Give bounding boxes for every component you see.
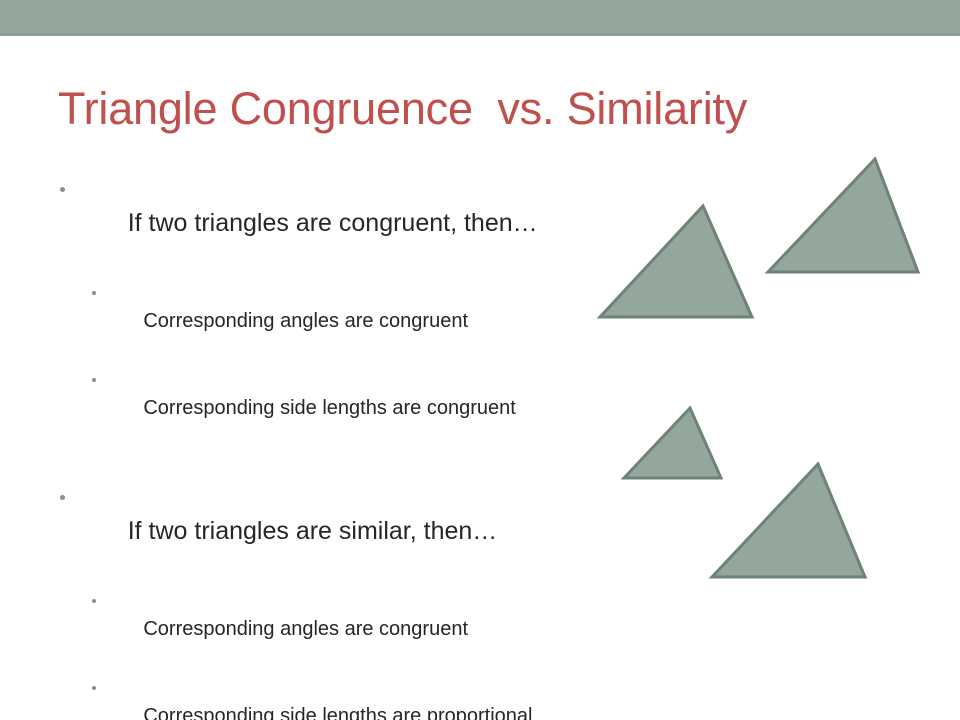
bullet-dot-icon [92, 686, 96, 690]
presentation-slide: Triangle Congruence vs. Similarity If tw… [0, 0, 960, 720]
bullet-similar-heading: If two triangles are similar, then… [56, 480, 656, 582]
slide-title: Triangle Congruence vs. Similarity [58, 82, 918, 136]
subbullet-similar-angles: Corresponding angles are congruent [56, 586, 656, 673]
subbullet-congruent-angles: Corresponding angles are congruent [56, 278, 656, 365]
bullet-dot-icon [92, 599, 96, 603]
slide-body: If two triangles are congruent, then… Co… [56, 172, 656, 720]
subbullet-similar-sides: Corresponding side lengths are proportio… [56, 673, 656, 720]
slide-top-band-rule [0, 33, 960, 36]
subbullet-congruent-sides: Corresponding side lengths are congruent [56, 365, 656, 452]
triangle-congruent-right [768, 159, 918, 272]
bullet-group-spacer [56, 452, 656, 480]
bullet-dot-icon [92, 291, 96, 295]
bullet-text: If two triangles are congruent, then… [128, 209, 538, 237]
bullet-dot-icon [60, 495, 65, 500]
subbullet-text: Corresponding angles are congruent [143, 310, 468, 332]
slide-top-band [0, 0, 960, 33]
bullet-text: If two triangles are similar, then… [128, 517, 498, 545]
bullet-dot-icon [92, 378, 96, 382]
bullet-dot-icon [60, 187, 65, 192]
subbullet-text: Corresponding side lengths are congruent [143, 397, 515, 419]
bullet-congruent-heading: If two triangles are congruent, then… [56, 172, 656, 274]
subbullet-text: Corresponding angles are congruent [143, 618, 468, 640]
triangle-similar-large [712, 464, 865, 577]
subbullet-text: Corresponding side lengths are proportio… [143, 705, 532, 720]
